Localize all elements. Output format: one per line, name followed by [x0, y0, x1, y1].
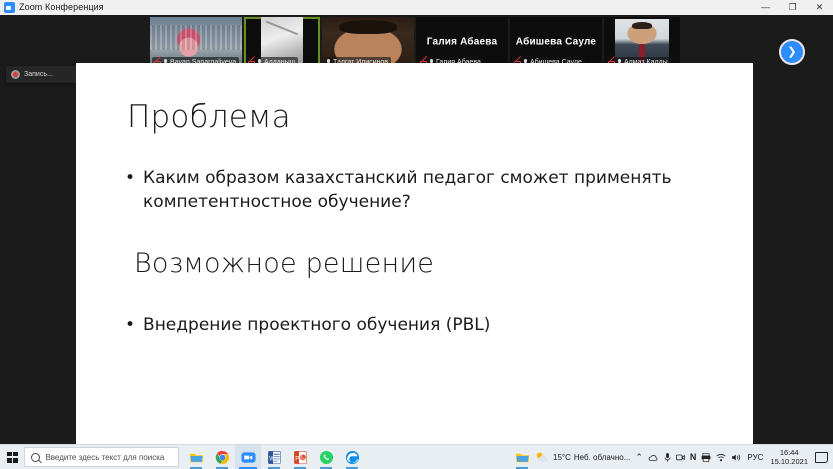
- taskbar-microsoft-edge[interactable]: [339, 445, 365, 469]
- powerpoint-icon: P: [293, 450, 308, 465]
- search-placeholder: Введите здесь текст для поиска: [45, 453, 164, 462]
- minimize-button[interactable]: —: [752, 0, 779, 15]
- chrome-icon: [215, 450, 230, 465]
- video-tile-galiya-abaeva[interactable]: Галия Абаева Галия Абаева: [416, 17, 508, 69]
- video-tile-almaz-kaldybaev[interactable]: Алмаз Калдыбаев: [604, 17, 680, 69]
- recording-label: Запись...: [24, 71, 53, 78]
- shared-presentation-slide: Проблема • Каким образом казахстанский п…: [76, 63, 753, 446]
- slide-subtitle: Возможное решение: [134, 248, 434, 279]
- window-controls: — ❐ ✕: [752, 0, 833, 15]
- clock-time: 16:44: [770, 448, 808, 457]
- maximize-restore-button[interactable]: ❐: [779, 0, 806, 15]
- whatsapp-icon: [319, 450, 334, 465]
- video-tile-abisheva-saule[interactable]: Абишева Сауле Абишева Сауле: [510, 17, 602, 69]
- show-hidden-icons-button[interactable]: ⌃: [635, 453, 643, 462]
- record-icon: [11, 70, 20, 79]
- taskbar-app-buttons: W P: [183, 445, 535, 469]
- next-participants-button[interactable]: ❯: [779, 39, 805, 65]
- printer-icon[interactable]: [701, 453, 711, 462]
- network-icon[interactable]: [716, 453, 726, 462]
- microphone-icon[interactable]: [664, 452, 671, 463]
- participant-display-name: Абишева Сауле: [510, 36, 602, 47]
- close-button[interactable]: ✕: [806, 0, 833, 15]
- start-button[interactable]: [0, 445, 24, 469]
- taskbar-search-input[interactable]: Введите здесь текст для поиска: [24, 447, 179, 467]
- participant-display-name: Галия Абаева: [416, 36, 508, 47]
- onedrive-icon[interactable]: [648, 453, 659, 462]
- window-title: Zoom Конференция: [19, 0, 104, 15]
- onenote-icon[interactable]: N: [690, 453, 697, 462]
- folder-icon: [189, 450, 204, 465]
- windows-logo-icon: [7, 452, 18, 463]
- taskbar-file-explorer[interactable]: [183, 445, 209, 469]
- slide-bullet-text: Внедрение проектного обучения (PBL): [143, 314, 490, 338]
- volume-icon[interactable]: [731, 453, 742, 462]
- taskbar-microsoft-word[interactable]: W: [261, 445, 287, 469]
- taskbar-microsoft-powerpoint[interactable]: P: [287, 445, 313, 469]
- taskbar-weather-widget[interactable]: 15°C Неб. облачно...: [535, 451, 630, 464]
- bullet-icon: •: [125, 314, 135, 338]
- action-center-icon[interactable]: [815, 452, 828, 463]
- svg-text:P: P: [295, 455, 299, 462]
- language-indicator[interactable]: РУС: [747, 453, 763, 462]
- folder-icon: [515, 450, 530, 465]
- partly-cloudy-icon: [535, 451, 550, 464]
- taskbar-whatsapp[interactable]: [313, 445, 339, 469]
- weather-condition: Неб. облачно...: [574, 453, 630, 462]
- video-tile-aldanysh[interactable]: Алданыш: [244, 17, 320, 69]
- video-tile-bayan-sapargaliyeva[interactable]: Bayan Sapargaliyeva: [150, 17, 242, 69]
- taskbar-clock[interactable]: 16:44 15.10.2021: [768, 448, 810, 466]
- taskbar-file-explorer-2[interactable]: [509, 445, 535, 469]
- zoom-icon: [241, 450, 256, 465]
- video-tile-talgat-ilisinov[interactable]: Талгат Илисинов: [322, 17, 414, 69]
- slide-bullet-text: Каким образом казахстанский педагог смож…: [143, 167, 695, 215]
- window-titlebar: Zoom Конференция — ❐ ✕: [0, 0, 833, 16]
- windows-taskbar: Введите здесь текст для поиска: [0, 444, 833, 469]
- word-icon: W: [267, 450, 282, 465]
- slide-bullet-problem: • Каким образом казахстанский педагог см…: [125, 167, 695, 215]
- bullet-icon: •: [125, 167, 135, 215]
- clock-date: 15.10.2021: [770, 457, 808, 466]
- zoom-app-icon: [4, 2, 15, 13]
- taskbar-google-chrome[interactable]: [209, 445, 235, 469]
- recording-toolbar[interactable]: Запись...: [6, 66, 83, 83]
- weather-temperature: 15°C: [553, 453, 571, 462]
- zoom-meeting-window: Zoom Конференция — ❐ ✕ Bayan Sapargaliye…: [0, 0, 833, 469]
- taskbar-zoom[interactable]: [235, 445, 261, 469]
- system-tray: 15°C Неб. облачно... ⌃ N: [535, 445, 833, 469]
- search-icon: [31, 453, 40, 462]
- slide-title: Проблема: [127, 99, 291, 135]
- slide-bullet-solution: • Внедрение проектного обучения (PBL): [125, 314, 695, 338]
- camera-icon[interactable]: [676, 453, 685, 462]
- edge-icon: [345, 450, 360, 465]
